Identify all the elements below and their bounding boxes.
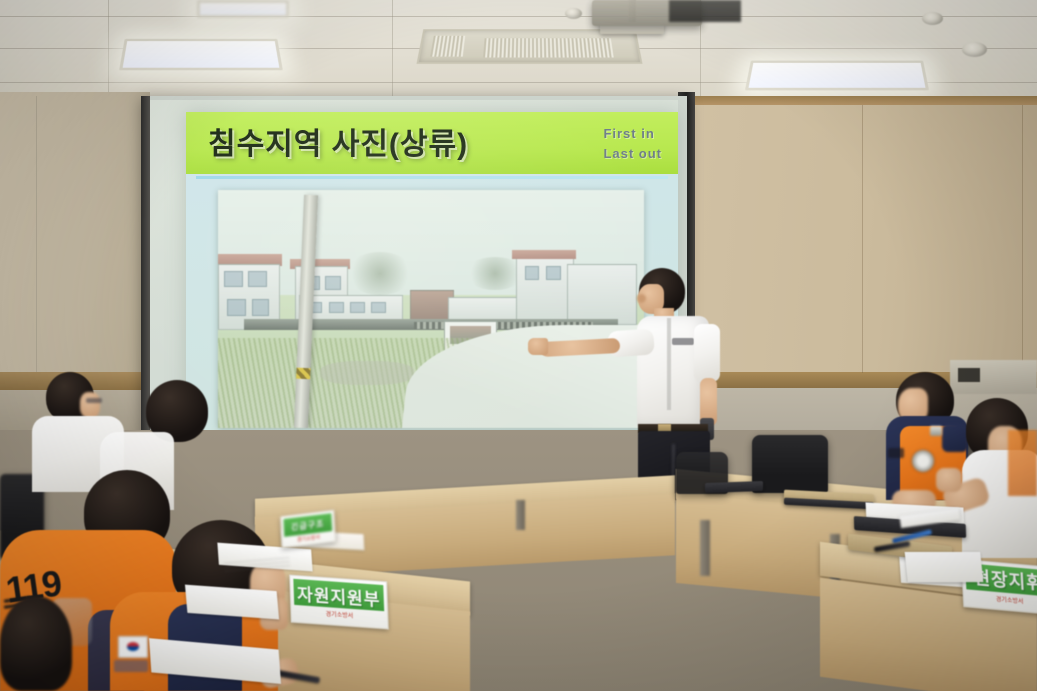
name-placard-1: 긴급구조 경기소방서 [280,510,336,548]
table-leg [516,500,525,530]
wall-panel-seam [862,105,863,373]
attendee-right-sleeve [1008,430,1037,496]
wall-right [694,96,1037,392]
attendee-hand [936,468,962,492]
presenter-ear [637,294,646,303]
chair[interactable] [752,435,828,493]
wall-panel-seam [1022,105,1023,373]
air-vent [416,29,642,64]
wall-trim [694,96,1037,105]
smoke-detector-icon [922,12,943,25]
korean-flag-patch [118,636,148,658]
briefing-room-photo: 침수지역 사진(상류) First in Last out [0,0,1037,691]
ceiling-light [745,61,929,91]
uniform-name-tape [888,448,904,458]
presenter-sleeve [694,324,720,382]
department-badge [912,450,934,472]
attendee-left-firefighter-3-head [0,596,72,691]
smoke-detector-icon [565,8,582,19]
handout-page[interactable] [905,552,984,582]
projector-lens-housing [669,0,741,22]
attendee-face [80,392,100,418]
ceiling-seam [0,16,1037,17]
rank-insignia [930,426,942,436]
screen-glare [150,100,678,472]
ceiling-light [119,39,283,71]
wall-panel-seam [36,96,37,372]
document-folder[interactable] [705,481,763,493]
presenter-hand [528,338,548,355]
uniform-name-tape [114,660,148,672]
placard-label: 자원지원부 [293,579,384,611]
presenter-shirt-placket [667,318,671,410]
ceiling-light [197,0,289,18]
presenter-pocket-pen [672,338,694,345]
name-placard-2: 자원지원부 경기소방서 [289,574,389,629]
smoke-detector-icon [962,42,987,57]
table-leg [700,520,710,576]
